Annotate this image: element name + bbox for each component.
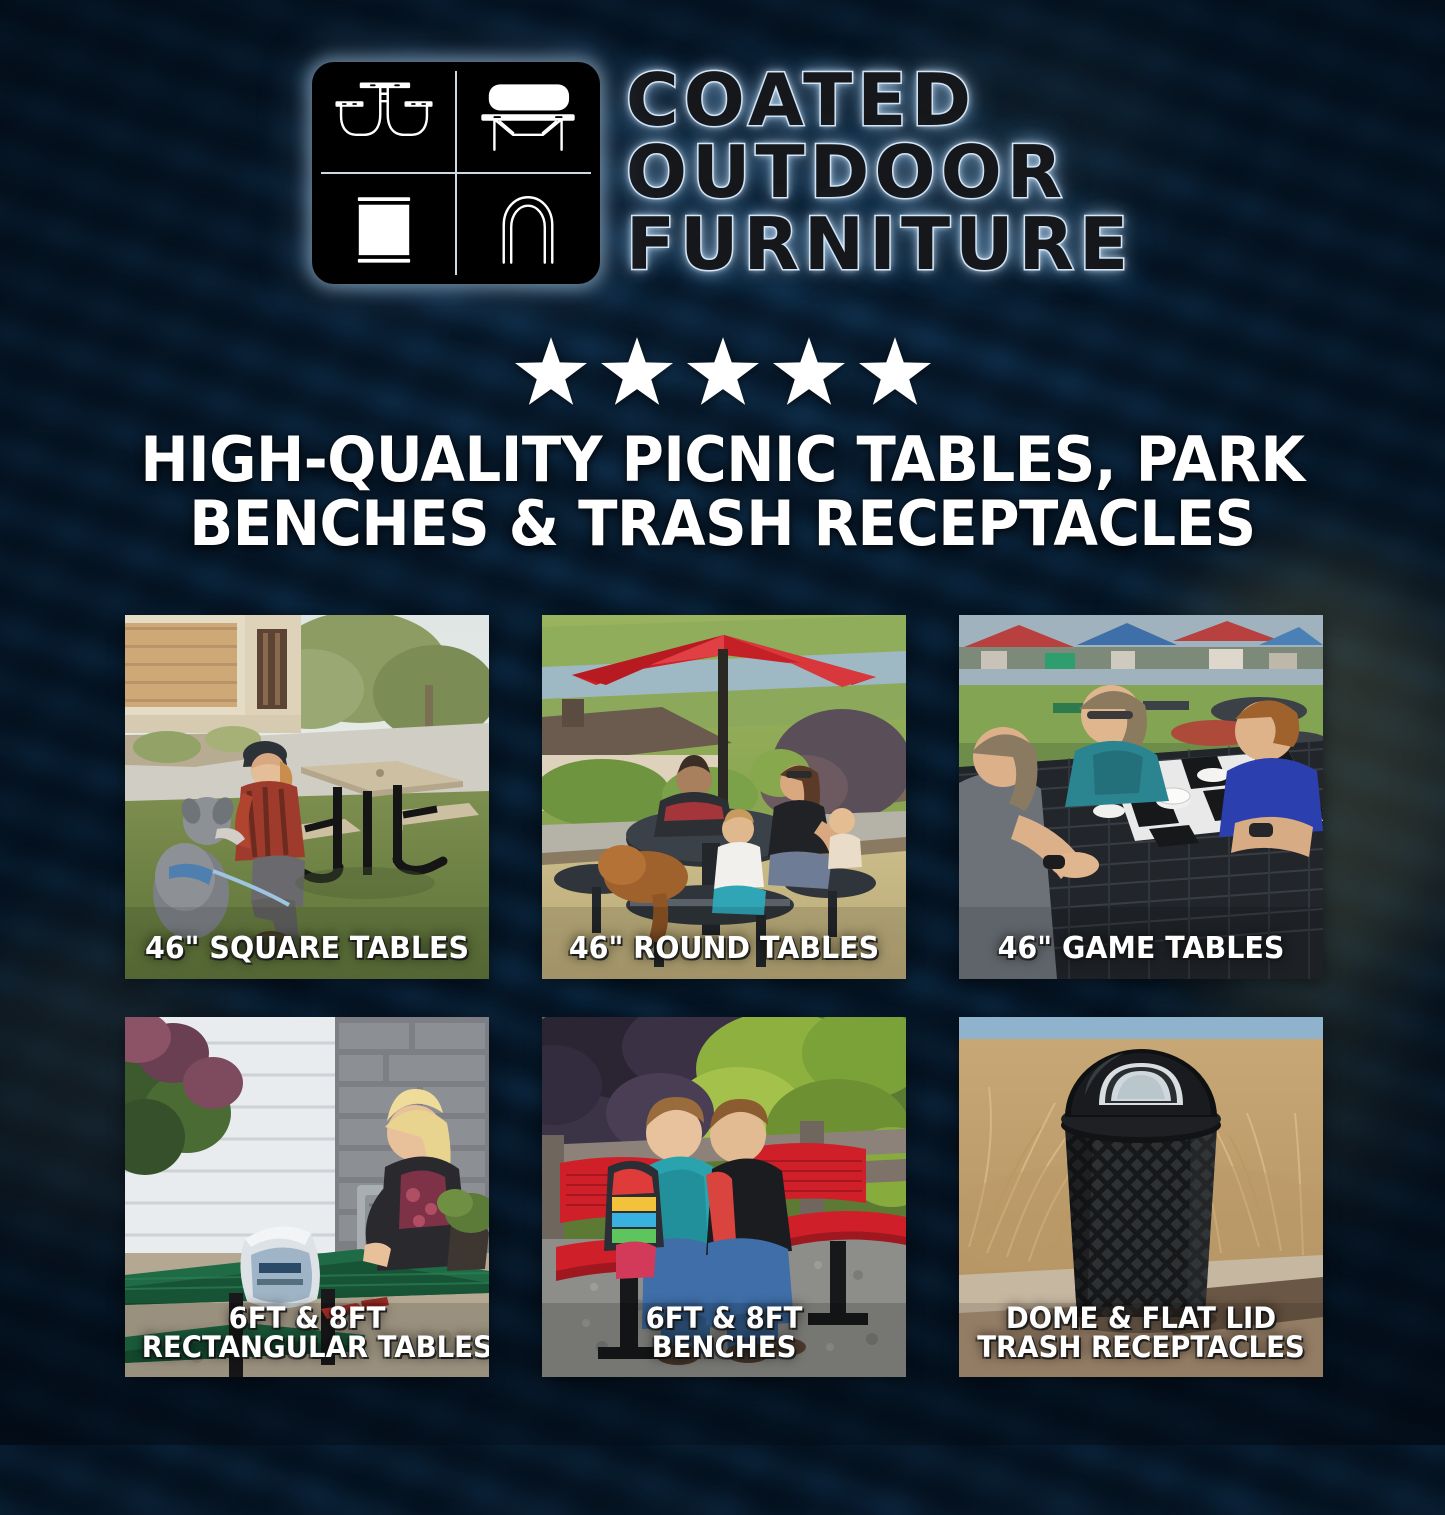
picnic-table-front-icon [312,62,456,173]
brand-header: COATED OUTDOOR FURNITURE [0,62,1445,284]
wordmark-line-3: FURNITURE [626,210,1133,280]
caption-line-1: DOME & FLAT LID [976,1304,1307,1334]
brand-wordmark: COATED OUTDOOR FURNITURE [626,62,1133,279]
product-caption-rectangular-tables: 6FT & 8FT RECTANGULAR TABLES [134,1304,480,1377]
product-caption-game-tables: 46" GAME TABLES [968,934,1314,979]
caption-line-2: BENCHES [559,1333,890,1363]
product-category-grid: 46" SQUARE TABLES [125,615,1323,1377]
product-caption-round-tables: 46" ROUND TABLES [551,934,897,979]
star-icon [601,336,673,406]
star-icon [515,336,587,406]
caption-line-1: 46" ROUND TABLES [559,934,890,965]
star-icon [859,336,931,406]
promotional-poster: COATED OUTDOOR FURNITURE HIGH-QUALITY PI… [0,0,1445,1445]
caption-line-2: RECTANGULAR TABLES [142,1333,473,1363]
star-icon [773,336,845,406]
product-tile-game-tables[interactable]: 46" GAME TABLES [959,615,1323,979]
caption-line-1: 6FT & 8FT [142,1304,473,1334]
star-rating [0,336,1445,406]
product-photo-square-tables [125,615,489,979]
wordmark-line-1: COATED [626,66,1133,136]
headline-line-2: BENCHES & TRASH RECEPTACLES [116,492,1330,556]
product-tile-benches[interactable]: 6FT & 8FT BENCHES [542,1017,906,1377]
dome-lid-receptacle-icon [456,173,600,284]
caption-line-1: 46" SQUARE TABLES [142,934,473,965]
wordmark-line-2: OUTDOOR [626,138,1133,208]
star-icon [687,336,759,406]
brand-logo-mark [312,62,600,284]
product-photo-game-tables [959,615,1323,979]
caption-line-1: 6FT & 8FT [559,1304,890,1334]
product-tile-rectangular-tables[interactable]: 6FT & 8FT RECTANGULAR TABLES [125,1017,489,1377]
product-caption-trash-receptacles: DOME & FLAT LID TRASH RECEPTACLES [968,1304,1314,1377]
flat-lid-receptacle-icon [312,173,456,284]
product-tile-trash-receptacles[interactable]: DOME & FLAT LID TRASH RECEPTACLES [959,1017,1323,1377]
headline-line-1: HIGH-QUALITY PICNIC TABLES, PARK [116,428,1330,492]
product-caption-square-tables: 46" SQUARE TABLES [134,934,480,979]
product-photo-round-tables [542,615,906,979]
product-caption-benches: 6FT & 8FT BENCHES [551,1304,897,1377]
bench-side-icon [456,62,600,173]
page-title: HIGH-QUALITY PICNIC TABLES, PARK BENCHES… [51,428,1395,557]
caption-line-2: TRASH RECEPTACLES [976,1333,1307,1363]
product-tile-round-tables[interactable]: 46" ROUND TABLES [542,615,906,979]
product-tile-square-tables[interactable]: 46" SQUARE TABLES [125,615,489,979]
caption-line-1: 46" GAME TABLES [976,934,1307,965]
